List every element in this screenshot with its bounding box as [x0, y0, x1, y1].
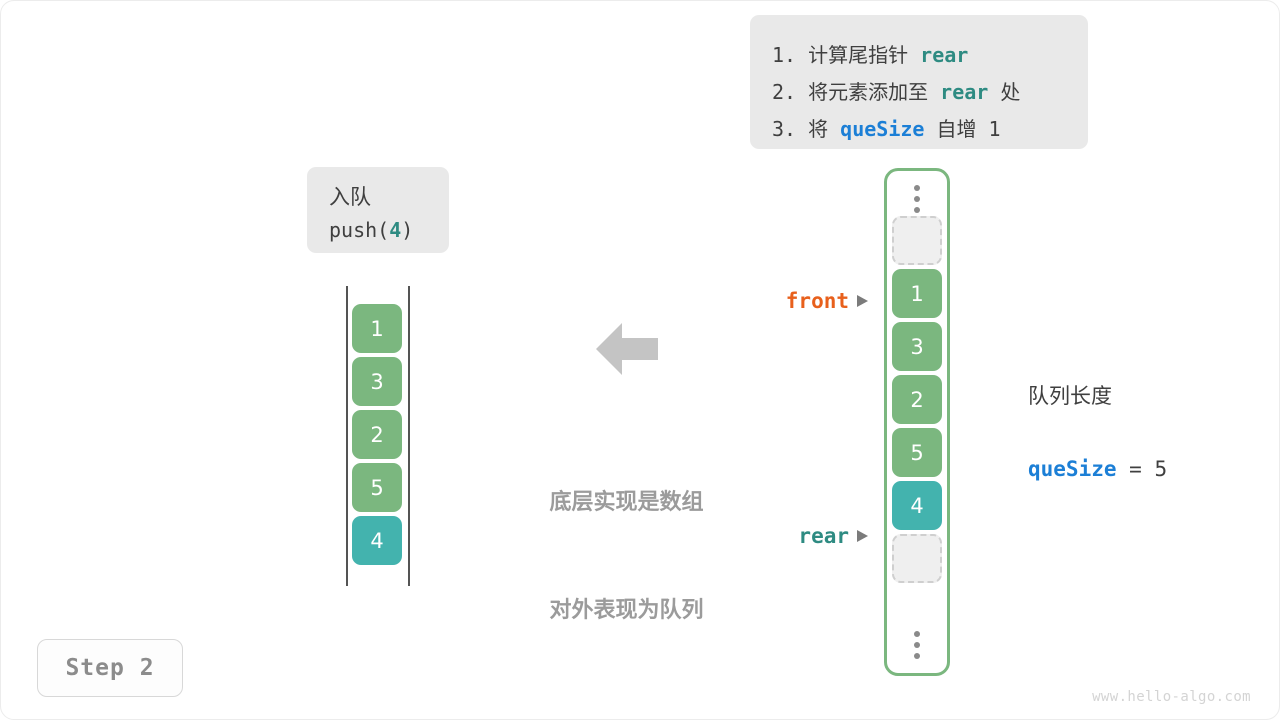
queue-rail-right	[408, 286, 410, 586]
array-cell: 5	[892, 428, 942, 477]
array-cell: 1	[352, 304, 402, 353]
underlying-array: 13254	[884, 168, 950, 676]
quesize-annotation: 队列长度 queSize = 5	[1028, 341, 1167, 525]
ellipsis-dots-bottom-icon	[914, 631, 920, 659]
step-badge: Step 2	[37, 639, 183, 697]
array-cell-empty	[892, 534, 942, 583]
diagram-canvas: 1. 计算尾指针 rear 2. 将元素添加至 rear 处 3. 将 queS…	[0, 0, 1280, 720]
pointer-arrowhead-icon	[857, 530, 868, 542]
array-cell: 2	[892, 375, 942, 424]
rear-pointer: rear	[798, 524, 868, 548]
array-cell: 5	[352, 463, 402, 512]
center-annotation-line-2: 对外表现为队列	[529, 593, 724, 629]
code-token-quesize: queSize	[840, 117, 924, 141]
ellipsis-dots-top-icon	[914, 185, 920, 213]
queue-rail-left	[346, 286, 348, 586]
quesize-value: queSize = 5	[1028, 452, 1167, 487]
instruction-line-1: 1. 计算尾指针 rear	[772, 37, 1088, 74]
rear-pointer-label: rear	[798, 524, 849, 548]
array-cells: 13254	[892, 216, 942, 583]
push-operation-panel: 入队 push(4)	[307, 167, 449, 253]
push-arg-value: 4	[389, 218, 401, 242]
instruction-line-2: 2. 将元素添加至 rear 处	[772, 74, 1088, 111]
array-cell: 4	[352, 516, 402, 565]
pointer-arrowhead-icon	[857, 295, 868, 307]
instruction-line-3: 3. 将 queSize 自增 1	[772, 111, 1088, 148]
logical-queue-cells: 13254	[352, 304, 402, 565]
array-cell: 1	[892, 269, 942, 318]
array-cell: 3	[892, 322, 942, 371]
code-token-rear: rear	[920, 43, 968, 67]
quesize-label: 队列长度	[1028, 379, 1167, 414]
code-token-rear: rear	[940, 80, 988, 104]
instructions-panel: 1. 计算尾指针 rear 2. 将元素添加至 rear 处 3. 将 queS…	[750, 15, 1088, 149]
watermark: www.hello-algo.com	[1092, 689, 1251, 705]
push-panel-call: push(4)	[329, 214, 449, 247]
array-cell: 3	[352, 357, 402, 406]
quesize-var-token: queSize	[1028, 457, 1117, 481]
front-pointer-label: front	[786, 289, 849, 313]
array-cell: 4	[892, 481, 942, 530]
logical-queue: 13254	[346, 286, 410, 586]
front-pointer: front	[786, 289, 868, 313]
array-cell-empty	[892, 216, 942, 265]
left-arrow-icon	[596, 321, 658, 377]
center-annotation-line-1: 底层实现是数组	[529, 485, 724, 521]
push-panel-title: 入队	[329, 181, 449, 214]
center-annotation: 底层实现是数组 对外表现为队列	[529, 413, 724, 701]
array-cell: 2	[352, 410, 402, 459]
